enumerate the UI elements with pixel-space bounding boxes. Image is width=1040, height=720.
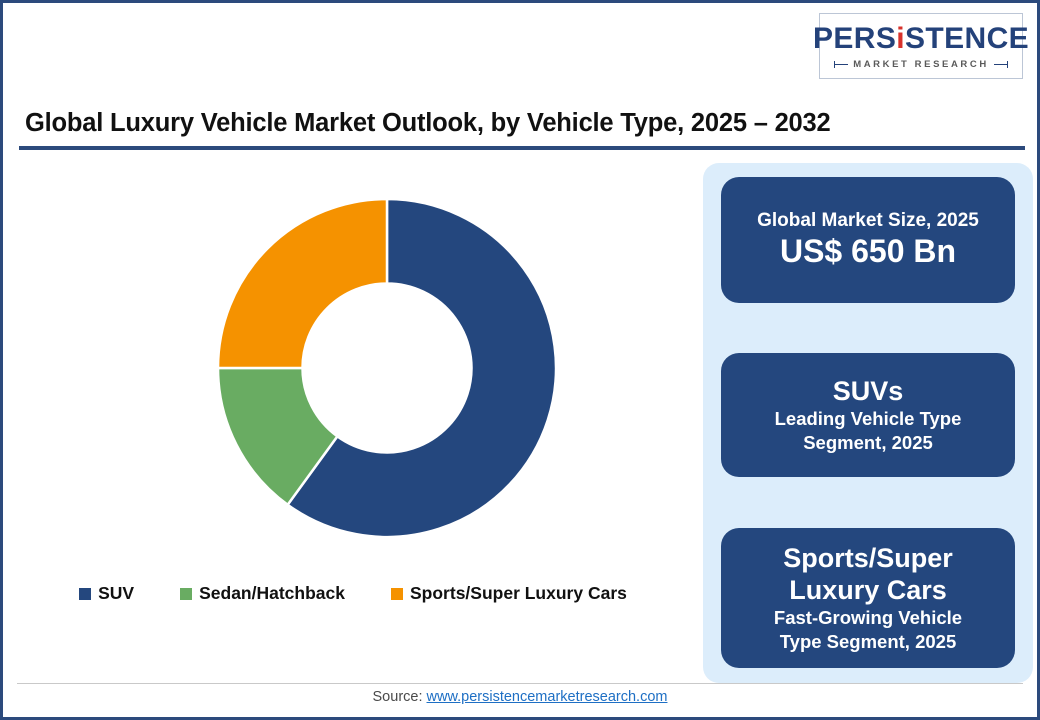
donut-slice-group — [218, 199, 556, 537]
kpi-card-fast-growing-segment-headline-line2: Luxury Cars — [789, 574, 947, 606]
logo-tagline-row: MARKET RESEARCH — [820, 59, 1022, 70]
logo-wordmark-part1: PERS — [813, 22, 896, 55]
page-title: Global Luxury Vehicle Market Outlook, by… — [25, 109, 831, 138]
legend-label-sports-super-luxury-cars: Sports/Super Luxury Cars — [410, 583, 627, 604]
legend-item-suv[interactable]: SUV — [79, 583, 134, 604]
kpi-card-market-size: Global Market Size, 2025 US$ 650 Bn — [721, 177, 1015, 303]
infographic-root: PERSiSTENCE MARKET RESEARCH Global Luxur… — [0, 0, 1040, 720]
logo-wordmark-accent-i: i — [896, 22, 905, 55]
legend-item-sports-super-luxury-cars[interactable]: Sports/Super Luxury Cars — [391, 583, 627, 604]
company-logo: PERSiSTENCE MARKET RESEARCH — [819, 13, 1023, 79]
highlights-panel: Global Market Size, 2025 US$ 650 Bn SUVs… — [703, 163, 1033, 683]
logo-rule-right-icon — [994, 64, 1008, 65]
legend-item-sedan-hatchback[interactable]: Sedan/Hatchback — [180, 583, 345, 604]
kpi-card-leading-segment-line1: Leading Vehicle Type — [775, 407, 962, 431]
logo-wordmark: PERSiSTENCE — [813, 24, 1029, 54]
donut-chart — [17, 155, 689, 555]
logo-rule-left-icon — [834, 64, 848, 65]
legend-swatch-sports-super-luxury-cars — [391, 588, 403, 600]
kpi-card-fast-growing-segment-line2: Type Segment, 2025 — [780, 630, 957, 654]
logo-wordmark-part2: STENCE — [905, 22, 1029, 55]
source-label: Source: — [373, 689, 427, 705]
kpi-card-leading-segment-headline: SUVs — [833, 375, 904, 407]
donut-slice-sports-super-luxury-cars[interactable] — [218, 199, 387, 368]
kpi-card-market-size-caption: Global Market Size, 2025 — [757, 209, 979, 233]
kpi-card-leading-segment-line2: Segment, 2025 — [803, 431, 933, 455]
legend-label-suv: SUV — [98, 583, 134, 604]
logo-tagline: MARKET RESEARCH — [853, 59, 989, 70]
chart-area: SUV Sedan/Hatchback Sports/Super Luxury … — [17, 155, 689, 665]
donut-chart-svg — [202, 183, 572, 553]
legend-swatch-suv — [79, 588, 91, 600]
kpi-card-fast-growing-segment-line1: Fast-Growing Vehicle — [774, 606, 962, 630]
title-underline-divider — [19, 146, 1025, 150]
chart-legend: SUV Sedan/Hatchback Sports/Super Luxury … — [17, 583, 689, 604]
legend-swatch-sedan-hatchback — [180, 588, 192, 600]
kpi-card-leading-segment: SUVs Leading Vehicle Type Segment, 2025 — [721, 353, 1015, 477]
source-link[interactable]: www.persistencemarketresearch.com — [427, 689, 668, 705]
kpi-card-fast-growing-segment: Sports/Super Luxury Cars Fast-Growing Ve… — [721, 528, 1015, 668]
kpi-card-fast-growing-segment-headline-line1: Sports/Super — [783, 542, 953, 574]
kpi-card-market-size-value: US$ 650 Bn — [780, 233, 956, 271]
source-footer: Source: www.persistencemarketresearch.co… — [3, 689, 1037, 705]
footer-divider — [17, 683, 1023, 684]
legend-label-sedan-hatchback: Sedan/Hatchback — [199, 583, 345, 604]
